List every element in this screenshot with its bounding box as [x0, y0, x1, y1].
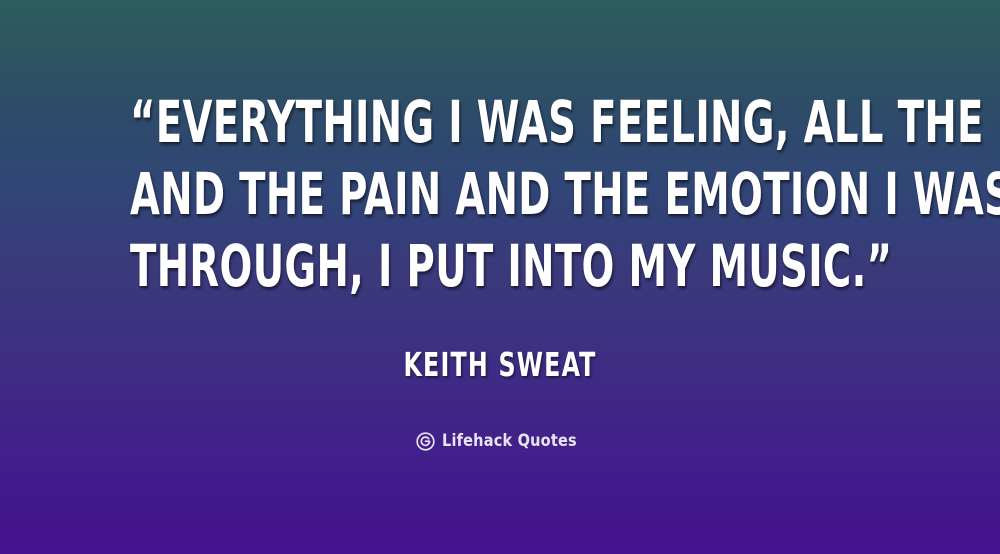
quote-text-block: “EVERYTHING I WAS FEELING, ALL THE HURT …	[0, 86, 1000, 302]
quote-author: KEITH SWEAT	[100, 345, 900, 385]
quote-line-2: AND THE PAIN AND THE EMOTION I WAS GOING	[130, 158, 870, 230]
footer-branding: Lifehack Quotes	[0, 432, 1000, 451]
lifehack-circle-logo-icon	[416, 432, 435, 451]
brand-name-label: Lifehack Quotes	[442, 432, 577, 451]
quote-line-1: “EVERYTHING I WAS FEELING, ALL THE HURT	[130, 86, 870, 158]
quote-line-3: THROUGH, I PUT INTO MY MUSIC.”	[130, 230, 870, 302]
quote-card: “EVERYTHING I WAS FEELING, ALL THE HURT …	[0, 0, 1000, 554]
